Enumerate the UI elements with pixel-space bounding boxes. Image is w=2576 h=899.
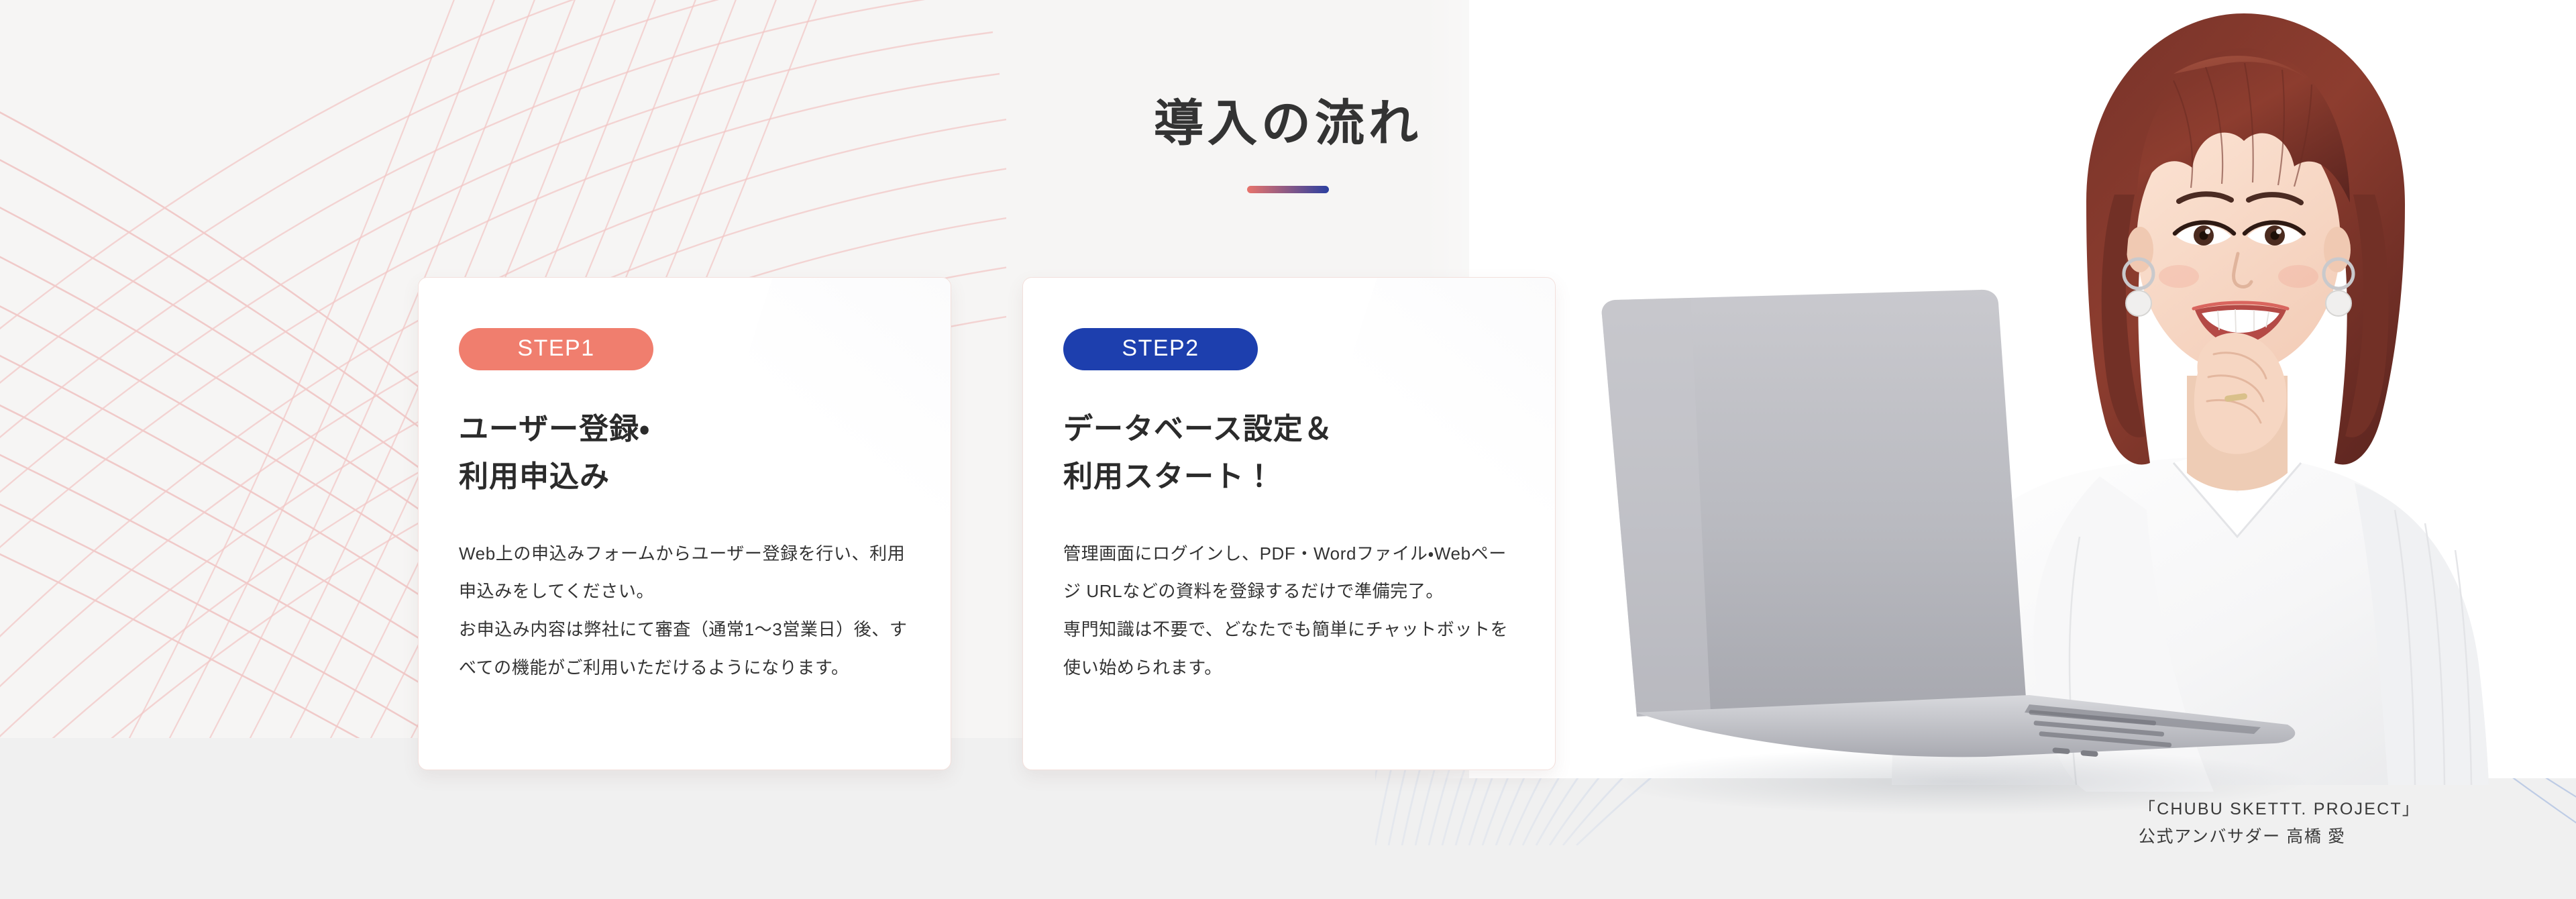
step-body-2-para2: 専門知識は不要で、どなたでも簡単にチャットボットを使い始められます。 (1063, 611, 1513, 686)
step-title-2-line2: 利用スタート！ (1063, 460, 1275, 493)
step-body-2-para1: 管理画面にログインし、PDF・Wordファイル・Webページ URLなどの資料を… (1063, 535, 1513, 611)
caption-project-name: 「CHUBU SKETTT. PROJECT」 (2139, 796, 2420, 823)
step-body-1-para2: お申込み内容は弊社にて審査（通常1〜3営業日）後、すべての機能がご利用いただける… (459, 611, 908, 686)
step-badge-1: STEP1 (459, 328, 653, 370)
step-card-2: STEP2 データベース設定＆ 利用スタート！ 管理画面にログインし、PDF・W… (1022, 277, 1556, 770)
step-title-2-line1: データベース設定＆ (1063, 413, 1334, 445)
steps-container: STEP1 ユーザー登録・ 利用申込み Web上の申込みフォームからユーザー登録… (418, 277, 1558, 770)
ambassador-caption: 「CHUBU SKETTT. PROJECT」 公式アンバサダー 高橋 愛 (2139, 796, 2420, 850)
step-card-1: STEP1 ユーザー登録・ 利用申込み Web上の申込みフォームからユーザー登録… (418, 277, 951, 770)
step-title-1-line1: ユーザー登録・ (459, 413, 650, 445)
page-title: 導入の流れ (0, 94, 2576, 154)
landing-section: 導入の流れ STEP1 ユーザー登録・ 利用申込み Web上の申込みフォームから… (0, 0, 2576, 899)
step-title-2: データベース設定＆ 利用スタート！ (1063, 405, 1555, 501)
section-heading: 導入の流れ (0, 94, 2576, 193)
caption-ambassador-name: 公式アンバサダー 高橋 愛 (2139, 823, 2420, 851)
step-body-1-para1: Web上の申込みフォームからユーザー登録を行い、利用申込みをしてください。 (459, 535, 908, 611)
step-title-1-line2: 利用申込み (459, 460, 610, 493)
step-title-1: ユーザー登録・ 利用申込み (459, 405, 951, 501)
step-body-1: Web上の申込みフォームからユーザー登録を行い、利用申込みをしてください。 お申… (459, 535, 908, 687)
title-accent-underline (1247, 186, 1329, 193)
step-badge-2: STEP2 (1063, 328, 1258, 370)
step-body-2: 管理画面にログインし、PDF・Wordファイル・Webページ URLなどの資料を… (1063, 535, 1513, 687)
